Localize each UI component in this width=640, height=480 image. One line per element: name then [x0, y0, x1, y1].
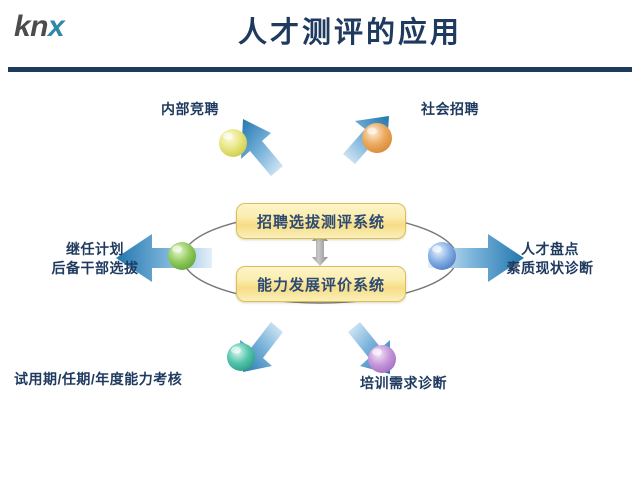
label-social-recruitment: 社会招聘 [380, 100, 520, 119]
label-internal-recruitment: 内部竞聘 [120, 100, 260, 119]
slide-canvas: knx 人才测评的应用 [0, 0, 640, 480]
label-succession-line-1: 继任计划 [20, 240, 170, 259]
develop-system-label: 能力发展评价系统 [257, 274, 385, 295]
title-divider [8, 67, 632, 72]
sphere-talent-inventory [428, 242, 456, 270]
label-succession-line-2: 后备干部选拔 [20, 259, 170, 278]
label-probation-review: 试用期/任期/年度能力考核 [14, 370, 264, 389]
sphere-social-recruitment [362, 123, 392, 153]
label-inventory-line-1: 人才盘点 [470, 240, 630, 259]
label-succession-planning: 继任计划 后备干部选拔 [20, 240, 170, 278]
page-title: 人才测评的应用 [0, 18, 640, 50]
talent-assessment-diagram: 招聘选拔测评系统 能力发展评价系统 内部竞聘 社会招聘 继任计划 后备干部选拔 … [0, 78, 640, 480]
sphere-probation-review [227, 343, 255, 371]
sphere-internal-recruitment [219, 129, 247, 157]
label-inventory-line-2: 素质现状诊断 [470, 259, 630, 278]
sphere-succession-planning [168, 242, 196, 270]
label-training-needs: 培训需求诊断 [360, 374, 540, 393]
sphere-training-needs [368, 345, 396, 373]
recruit-system-box[interactable]: 招聘选拔测评系统 [236, 203, 406, 239]
recruit-system-label: 招聘选拔测评系统 [257, 211, 385, 232]
develop-system-box[interactable]: 能力发展评价系统 [236, 266, 406, 302]
arrow-up-left [241, 119, 283, 176]
label-talent-inventory: 人才盘点 素质现状诊断 [470, 240, 630, 278]
